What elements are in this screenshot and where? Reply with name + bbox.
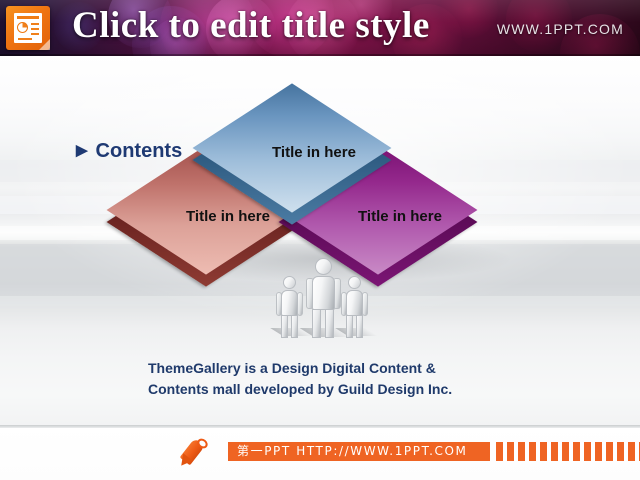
figure-head	[348, 276, 361, 289]
icon-title-bar	[17, 16, 39, 19]
header-bottom-edge	[0, 54, 640, 56]
slide-canvas: Click to edit title style WWW.1PPT.COM ▶…	[0, 0, 640, 480]
icon-line	[31, 23, 39, 25]
pencil-icon	[180, 437, 214, 467]
description-line-1: ThemeGallery is a Design Digital Content…	[148, 358, 568, 379]
orange-stripe-pattern	[496, 442, 640, 461]
figure-leg-right	[291, 315, 298, 338]
icon-sheet	[14, 13, 42, 43]
icon-pie-chart	[17, 22, 28, 33]
diagram-block-blue[interactable]: Title in here	[234, 90, 394, 250]
block-blue-label: Title in here	[234, 144, 394, 161]
header-website-url: WWW.1PPT.COM	[497, 21, 624, 37]
figure-leg-left	[312, 309, 321, 338]
figure-leg-right	[325, 309, 334, 338]
figure-torso	[281, 290, 298, 316]
figure-head	[315, 258, 332, 275]
description-line-2: Contents mall developed by Guild Design …	[148, 379, 568, 400]
figure-torso	[312, 276, 335, 310]
icon-line	[31, 33, 39, 35]
figure-head	[283, 276, 296, 289]
figure-torso	[346, 290, 363, 316]
slide-header: Click to edit title style WWW.1PPT.COM	[0, 0, 640, 56]
person-figure-center	[304, 258, 348, 338]
footer-divider	[0, 425, 640, 428]
footer-url-text: 第一PPT HTTP://WWW.1PPT.COM	[228, 442, 490, 461]
icon-line	[31, 28, 39, 30]
slide-title[interactable]: Click to edit title style	[72, 4, 430, 47]
icon-page-fold	[39, 39, 50, 50]
footer-url-bar[interactable]: 第一PPT HTTP://WWW.1PPT.COM	[228, 442, 490, 461]
figure-leg-right	[356, 315, 363, 338]
description-text[interactable]: ThemeGallery is a Design Digital Content…	[148, 358, 568, 400]
icon-line	[18, 38, 32, 40]
powerpoint-document-icon	[6, 6, 50, 50]
triangle-right-icon: ▶	[76, 141, 88, 159]
figure-leg-left	[281, 315, 288, 338]
